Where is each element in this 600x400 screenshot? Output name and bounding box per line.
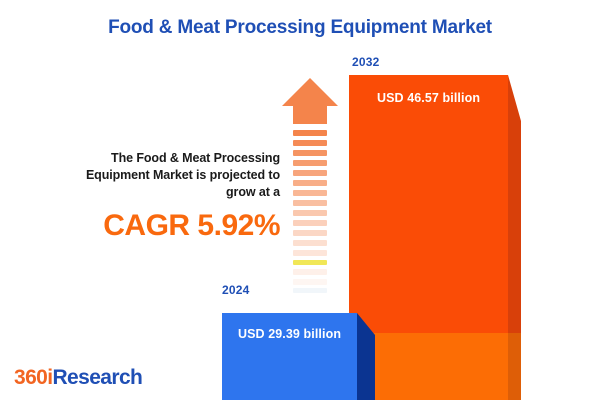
page-title: Food & Meat Processing Equipment Market — [0, 17, 600, 39]
bar-2024: 2024 USD 29.39 billion — [200, 283, 390, 400]
arrow-stripe-stack — [293, 130, 327, 293]
brand-logo-blue-text: Research — [52, 366, 142, 389]
brand-logo-orange-text: 360i — [14, 366, 52, 389]
bar-2032-year-label: 2032 — [352, 55, 380, 69]
cagr-description: The Food & Meat Processing Equipment Mar… — [55, 150, 280, 201]
brand-logo: 360iResearch — [14, 366, 142, 390]
bar-2024-side-face — [357, 313, 375, 400]
cagr-callout: The Food & Meat Processing Equipment Mar… — [55, 150, 280, 243]
bar-2032-side-face-lower — [508, 333, 521, 400]
market-size-infographic: Food & Meat Processing Equipment Market — [0, 0, 600, 400]
cagr-value: CAGR 5.92% — [55, 209, 280, 243]
bar-2024-year-label: 2024 — [222, 283, 250, 297]
bar-2024-value-label: USD 29.39 billion — [222, 327, 357, 341]
bar-2032-side-face-upper — [508, 75, 521, 333]
bar-2032-value-label: USD 46.57 billion — [349, 91, 508, 105]
